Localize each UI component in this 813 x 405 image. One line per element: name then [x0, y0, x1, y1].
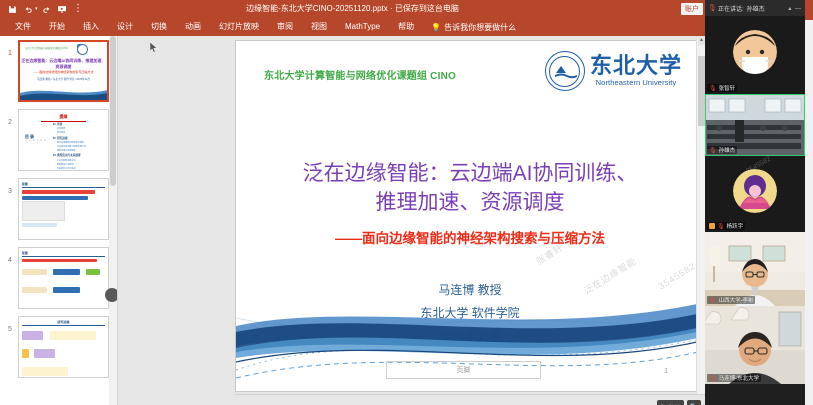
mic-muted-icon: 🎙	[709, 297, 717, 304]
ribbon-tabs: 文件 开始 插入 设计 切换 动画 幻灯片放映 审阅 视图 MathType 帮…	[0, 18, 705, 36]
meeting-status-bar: 🎙 正在讲话: 孙雄杰 ▴ —	[705, 0, 805, 16]
thumb-title-text: 泛在边缘智能：云边端AI协同训练、推理加速、资源调度	[20, 58, 107, 69]
tab-animations[interactable]: 动画	[176, 18, 210, 36]
tab-slideshow[interactable]: 幻灯片放映	[210, 18, 268, 36]
slideshow-icon[interactable]	[55, 2, 70, 17]
tab-home[interactable]: 开始	[40, 18, 74, 36]
save-icon[interactable]	[5, 2, 20, 17]
slide-org-header: 东北大学计算智能与网络优化课题组 CINO	[264, 67, 456, 82]
zoom-button[interactable]: 🔍	[687, 400, 701, 405]
tab-mathtype[interactable]: MathType	[336, 18, 389, 36]
thumb-header-text: 提纲	[19, 114, 108, 120]
mic-muted-icon: 🎙	[708, 5, 715, 12]
participant-tile[interactable]: 🎙 张智轩	[705, 16, 805, 94]
university-seal-icon	[545, 51, 585, 91]
undo-dropdown-icon[interactable]: ▾	[35, 6, 38, 12]
tell-me-label: 告诉我你想要做什么	[444, 22, 516, 33]
undo-icon[interactable]	[21, 2, 36, 17]
thumbnail-slide-4[interactable]: 4 背景	[0, 247, 109, 309]
thumb-toc-sub: C O N T E N T	[25, 140, 51, 142]
tab-file[interactable]: 文件	[6, 18, 40, 36]
lightbulb-icon: 💡	[431, 23, 441, 32]
thumbnail-slide-2[interactable]: 2 提纲 目 录 C O N T E N T 01. 背景 边缘智	[0, 109, 109, 171]
thumbnail-list: 1 东北大学计算智能与网络优化课题组 CINO 泛在边缘智能：云边端AI协同训练…	[0, 36, 109, 405]
thumbnail-scrollbar-thumb[interactable]	[110, 36, 116, 186]
thumbnail-canvas[interactable]: 背景	[18, 178, 109, 240]
account-badge[interactable]: 账户	[681, 3, 703, 15]
participant-name: 张智轩	[719, 84, 736, 92]
participant-name-chip: 🎙 山西大学-李彬	[707, 296, 755, 304]
thumbnail-canvas[interactable]: 研究进展	[18, 316, 109, 378]
thumb-info-text: 马连博 教授 / 东北大学 软件学院 / 2025年11月	[20, 78, 107, 82]
participant-name: 杨跃宇	[727, 222, 744, 230]
desktop-top-strip	[805, 0, 813, 20]
slide-title[interactable]: 泛在边缘智能：云边端AI协同训练、 推理加速、资源调度	[256, 159, 684, 217]
slide-subtitle[interactable]: ——面向边缘智能的神经架构搜索与压缩方法	[256, 227, 684, 247]
thumbnail-slide-5[interactable]: 5 研究进展	[0, 316, 109, 378]
participant-name-chip: 🎙 张智轩	[707, 84, 737, 92]
thumbnail-number: 4	[2, 247, 18, 264]
thumbnail-slide-1[interactable]: 1 东北大学计算智能与网络优化课题组 CINO 泛在边缘智能：云边端AI协同训练…	[0, 40, 109, 102]
avatar	[733, 169, 777, 213]
thumb-header-text: 研究进展	[22, 320, 105, 324]
meeting-window-controls[interactable]: ▴ —	[788, 5, 802, 12]
participant-name-chip: 🎙 孙雄杰	[707, 146, 737, 154]
slide-scrollbar-thumb[interactable]	[698, 56, 705, 126]
thumbnail-number: 3	[2, 178, 18, 195]
thumb-header-text: 背景	[22, 182, 105, 186]
tab-insert[interactable]: 插入	[74, 18, 108, 36]
host-badge-icon	[709, 223, 715, 229]
participant-tile[interactable]: 3545582 🎙 杨跃宇	[705, 156, 805, 232]
redo-icon[interactable]	[39, 2, 54, 17]
thumbnail-canvas[interactable]: 提纲 目 录 C O N T E N T 01. 背景 边缘智能 研究现状 02…	[18, 109, 109, 171]
thumb-divider	[22, 256, 105, 257]
pane-resize-handle[interactable]	[105, 288, 118, 302]
floating-tools: ✎ 批注 🔍	[657, 400, 701, 405]
scroll-up-icon[interactable]: ▲	[698, 36, 705, 45]
participant-name: 孙雄杰	[719, 146, 736, 154]
thumb-header-text: 背景	[22, 251, 105, 255]
thumb-content-blocks	[22, 328, 105, 378]
thumbnail-number: 2	[2, 109, 18, 126]
editor-body: 1 东北大学计算智能与网络优化课题组 CINO 泛在边缘智能：云边端AI协同训练…	[0, 36, 705, 405]
participant-name: 山西大学-李彬	[719, 296, 754, 304]
slide-title-line2: 推理加速、资源调度	[256, 188, 684, 217]
thumbnail-slide-3[interactable]: 3 背景	[0, 178, 109, 240]
tab-review[interactable]: 审阅	[268, 18, 302, 36]
participant-name-chip: 🎙 马连博-东北大学	[707, 374, 761, 382]
thumb-subtitle-text: ——面向边缘智能的神经架构搜索与压缩方法	[20, 70, 107, 74]
avatar	[733, 30, 777, 74]
tab-design[interactable]: 设计	[108, 18, 142, 36]
slide-title-line1: 泛在边缘智能：云边端AI协同训练、	[256, 159, 684, 188]
thumb-toc-lines: 01. 背景 边缘智能 研究现状 02. 研究进展 面向边缘智能的神经架构搜索 …	[53, 122, 104, 171]
slide-thumbnail-pane: 1 东北大学计算智能与网络优化课题组 CINO 泛在边缘智能：云边端AI协同训练…	[0, 36, 118, 405]
slide-page-number: 1	[664, 368, 668, 375]
window-title: 边缘智能-东北大学CINO-20251120.pptx · 已保存到这台电脑	[0, 0, 705, 18]
tab-view[interactable]: 视图	[302, 18, 336, 36]
slide-scrollbar[interactable]: ▲	[696, 36, 705, 405]
thumb-divider	[22, 187, 105, 188]
mic-muted-icon: 🎙	[709, 85, 717, 92]
participant-name-chip: 🎙 杨跃宇	[707, 222, 745, 230]
thumbnail-number: 5	[2, 316, 18, 333]
powerpoint-window: ▾ ⋮ 边缘智能-东北大学CINO-20251120.pptx · 已保存到这台…	[0, 0, 705, 405]
thumb-content-blocks	[22, 190, 105, 227]
thumb-header-text: 东北大学计算智能与网络优化课题组 CINO	[25, 46, 68, 50]
thumb-divider	[22, 325, 105, 326]
video-feed	[705, 232, 805, 306]
meeting-panel: 🎙 正在讲话: 孙雄杰 ▴ — 🎙 张智轩	[705, 0, 805, 405]
participant-name: 马连博-东北大学	[719, 374, 759, 382]
video-feed	[705, 306, 805, 384]
mic-muted-icon: 🎙	[709, 147, 717, 154]
mic-muted-icon: 🎙	[717, 223, 725, 230]
tab-help[interactable]: 帮助	[389, 18, 423, 36]
footer-placeholder[interactable]: 页脚	[386, 361, 541, 379]
slide-edit-pane: 东北大学计算智能与网络优化课题组 CINO 东北大学 Northeaste	[118, 36, 705, 405]
thumbnail-canvas[interactable]: 东北大学计算智能与网络优化课题组 CINO 泛在边缘智能：云边端AI协同训练、推…	[18, 40, 109, 102]
speaking-label: 正在讲话:	[718, 4, 744, 13]
annotate-button[interactable]: ✎ 批注	[657, 400, 683, 405]
mouse-cursor-icon	[150, 40, 158, 51]
title-bar: ▾ ⋮ 边缘智能-东北大学CINO-20251120.pptx · 已保存到这台…	[0, 0, 705, 18]
thumbnail-scrollbar[interactable]	[109, 36, 117, 405]
thumb-wave-graphic	[20, 84, 107, 100]
notes-pane[interactable]: 单击此处添加备注 ✎ 批注 🔍	[235, 394, 705, 405]
mic-muted-icon: 🎙	[709, 375, 717, 382]
participant-tile[interactable]: 🎙 马连博-东北大学	[705, 306, 805, 384]
tell-me-search[interactable]: 💡 告诉我你想要做什么	[423, 22, 516, 33]
thumb-toc-label: 目 录 C O N T E N T	[25, 134, 51, 142]
northeastern-university-logo: 东北大学 Northeastern University	[545, 51, 682, 91]
screen: ▾ ⋮ 边缘智能-东北大学CINO-20251120.pptx · 已保存到这台…	[0, 0, 813, 405]
participant-tile-active[interactable]: 🎙 孙雄杰	[705, 94, 805, 156]
thumbnail-canvas[interactable]: 背景	[18, 247, 109, 309]
desktop-scrollbar-strip[interactable]	[805, 0, 813, 405]
participant-tile[interactable]: 🎙 山西大学-李彬	[705, 232, 805, 306]
logo-english-name: Northeastern University	[596, 78, 677, 87]
logo-chinese-name: 东北大学	[590, 55, 682, 78]
thumbnail-number: 1	[2, 40, 18, 57]
more-icon[interactable]: ⋮	[71, 2, 86, 17]
slide-canvas[interactable]: 东北大学计算智能与网络优化课题组 CINO 东北大学 Northeaste	[235, 40, 705, 392]
current-speaker-name: 孙雄杰	[747, 4, 765, 13]
thumb-content-blocks	[22, 259, 105, 300]
window-controls: 账户	[681, 0, 705, 18]
thumb-logo-icon	[77, 44, 103, 53]
quick-access-toolbar: ▾ ⋮	[0, 2, 86, 17]
tab-transitions[interactable]: 切换	[142, 18, 176, 36]
